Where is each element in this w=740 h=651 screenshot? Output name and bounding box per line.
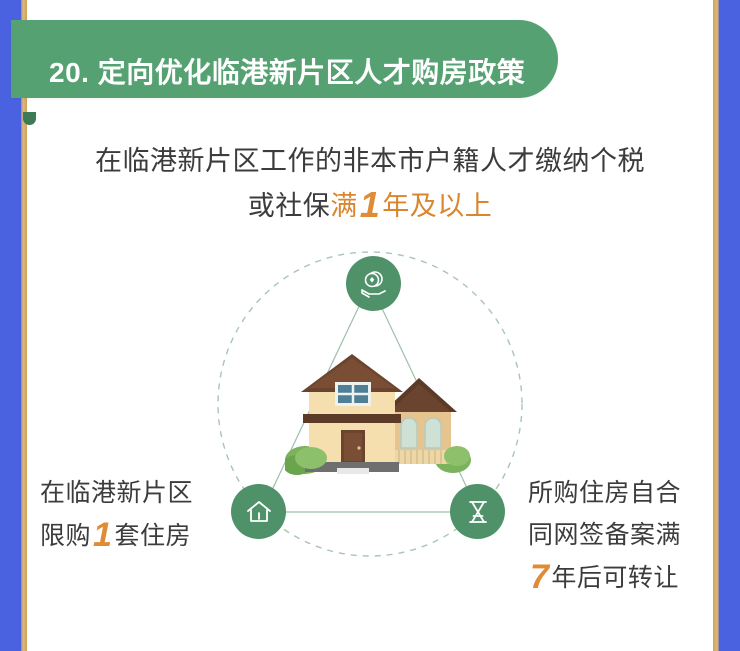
headline-line-2: 或社保满1年及以上 <box>27 183 713 228</box>
house-illustration <box>285 352 475 480</box>
caption-left-line-1: 在临港新片区 <box>40 472 193 514</box>
node-transfer-period[interactable] <box>450 484 505 539</box>
caption-right-line-2: 同网签备案满 <box>528 514 681 556</box>
porch-railing <box>389 450 451 464</box>
caption-left-suffix: 套住房 <box>114 522 191 550</box>
caption-right-number: 7 <box>528 558 551 596</box>
headline-line2-prefix: 或社保 <box>248 191 331 221</box>
door-step <box>337 468 369 474</box>
headline-text: 在临港新片区工作的非本市户籍人才缴纳个税 或社保满1年及以上 <box>27 139 713 228</box>
bush-front-right <box>444 446 470 466</box>
infographic-page: 20. 定向优化临港新片区人才购房政策 在临港新片区工作的非本市户籍人才缴纳个税… <box>0 0 740 651</box>
caption-right-suffix: 年后可转让 <box>551 564 679 592</box>
caption-right-line-3: 7年后可转让 <box>528 556 681 599</box>
right-blue-rail <box>719 0 740 651</box>
caption-left-prefix: 限购 <box>40 522 91 550</box>
node-purchase-limit[interactable] <box>231 484 286 539</box>
door-knob <box>357 446 360 449</box>
house-eave-band <box>303 414 401 423</box>
arched-window-left <box>401 418 417 448</box>
page-title: 20. 定向优化临港新片区人才购房政策 <box>49 59 525 87</box>
banner-fold-notch <box>23 112 36 125</box>
node-tax-payment[interactable] <box>346 256 401 311</box>
headline-line2-orange-before: 满 <box>330 191 358 221</box>
caption-right-line-1: 所购住房自合 <box>528 472 681 514</box>
right-gold-divider <box>713 0 719 651</box>
bush-front-left <box>295 447 327 469</box>
caption-left-line-2: 限购1套住房 <box>40 514 193 557</box>
hand-holding-coin-icon <box>359 269 389 299</box>
headline-line-1: 在临港新片区工作的非本市户籍人才缴纳个税 <box>27 139 713 183</box>
section-title-banner: 20. 定向优化临港新片区人才购房政策 <box>11 20 558 98</box>
caption-left-number: 1 <box>91 516 114 554</box>
headline-line2-number: 1 <box>358 184 383 225</box>
caption-transfer-period: 所购住房自合 同网签备案满 7年后可转让 <box>528 472 681 599</box>
house-illustration-svg <box>285 352 475 480</box>
home-outline-icon <box>244 497 274 527</box>
arched-window-right <box>425 418 441 448</box>
headline-line2-orange-after: 年及以上 <box>382 191 492 221</box>
hourglass-icon <box>463 497 493 527</box>
caption-purchase-limit: 在临港新片区 限购1套住房 <box>40 472 193 557</box>
